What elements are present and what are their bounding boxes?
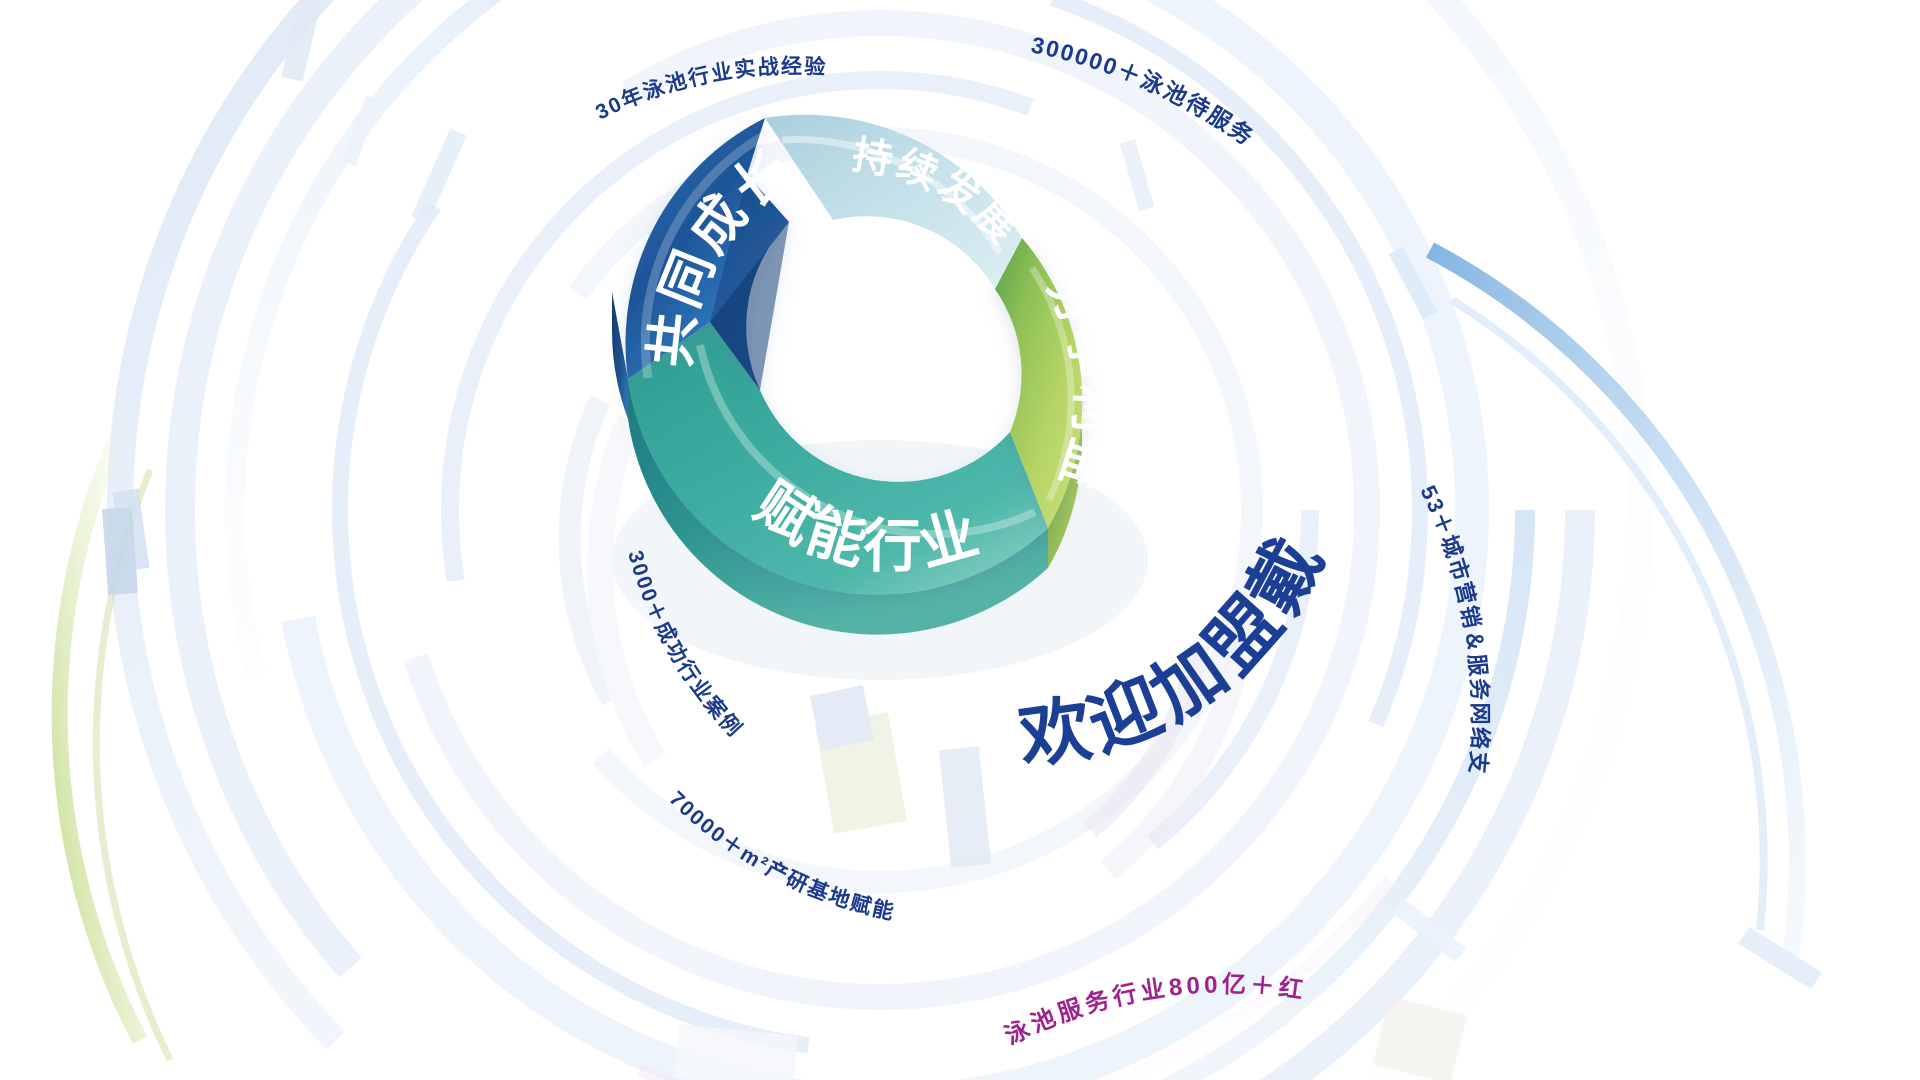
orbit-label-rd-base: 70000＋m²产研基地赋能 <box>664 787 897 924</box>
orbit-label-pools-to-serve: 300000＋泳池待服务 <box>1029 31 1259 150</box>
orbit-label-market-dividend: 泳池服务行业800亿＋红利 <box>0 0 1309 1050</box>
orbit-labels-layer: 30年泳池行业实战经验 300000＋泳池待服务 53＋城市营销＆服务网络支持 … <box>0 0 1920 1080</box>
orbit-label-success-cases: 3000＋成功行业案例 <box>623 548 747 742</box>
orbit-label-experience: 30年泳池行业实战经验 <box>592 54 828 124</box>
infographic-canvas: 共同成长 持续发展 分享利益 赋能行业 30年泳池行业实战经验 300000＋泳… <box>0 0 1920 1080</box>
